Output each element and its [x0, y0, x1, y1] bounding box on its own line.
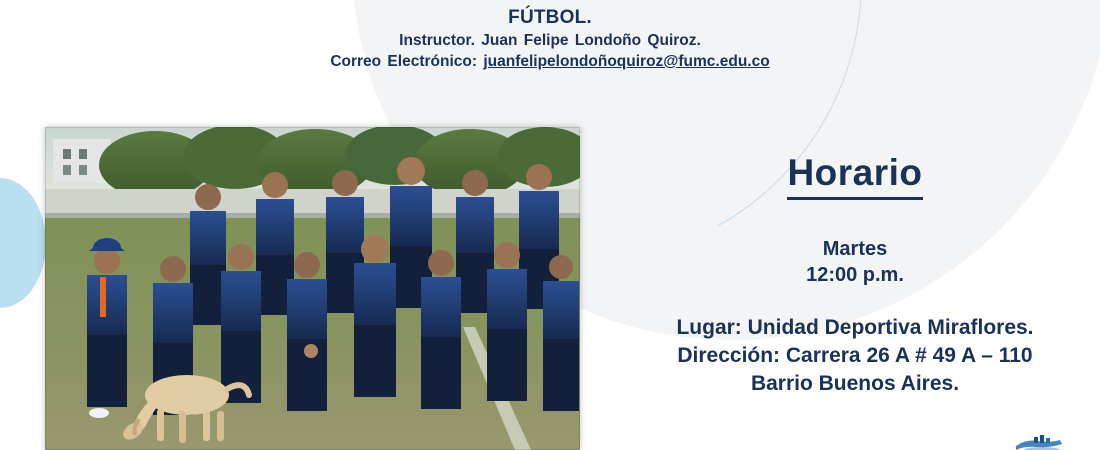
schedule-day: Martes [620, 236, 1090, 262]
schedule-block: Horario Martes 12:00 p.m. Lugar: Unidad … [620, 150, 1090, 398]
schedule-neighborhood: Barrio Buenos Aires. [620, 370, 1090, 398]
spacer-2 [620, 288, 1090, 314]
institution-logo-fragment [1012, 432, 1068, 450]
schedule-place: Lugar: Unidad Deportiva Miraflores. [620, 314, 1090, 342]
header-text-block: FÚTBOL. Instructor. Juan Felipe Londoño … [0, 6, 1100, 72]
instructor-line: Instructor. Juan Felipe Londoño Quiroz. [0, 30, 1100, 51]
team-photo [45, 127, 580, 450]
slide-canvas: FÚTBOL. Instructor. Juan Felipe Londoño … [0, 0, 1100, 450]
email-link[interactable]: juanfelipelondoñoquiroz@fumc.edu.co [483, 53, 769, 70]
page-title: FÚTBOL. [0, 6, 1100, 30]
email-line: Correo Electrónico: juanfelipelondoñoqui… [0, 51, 1100, 72]
spacer-1 [620, 200, 1090, 236]
schedule-heading: Horario [787, 150, 922, 200]
schedule-time: 12:00 p.m. [620, 262, 1090, 288]
schedule-address: Dirección: Carrera 26 A # 49 A – 110 [620, 342, 1090, 370]
email-label: Correo Electrónico: [330, 53, 477, 70]
schedule-heading-wrap: Horario [620, 150, 1090, 200]
blue-circle-decoration [0, 178, 46, 308]
